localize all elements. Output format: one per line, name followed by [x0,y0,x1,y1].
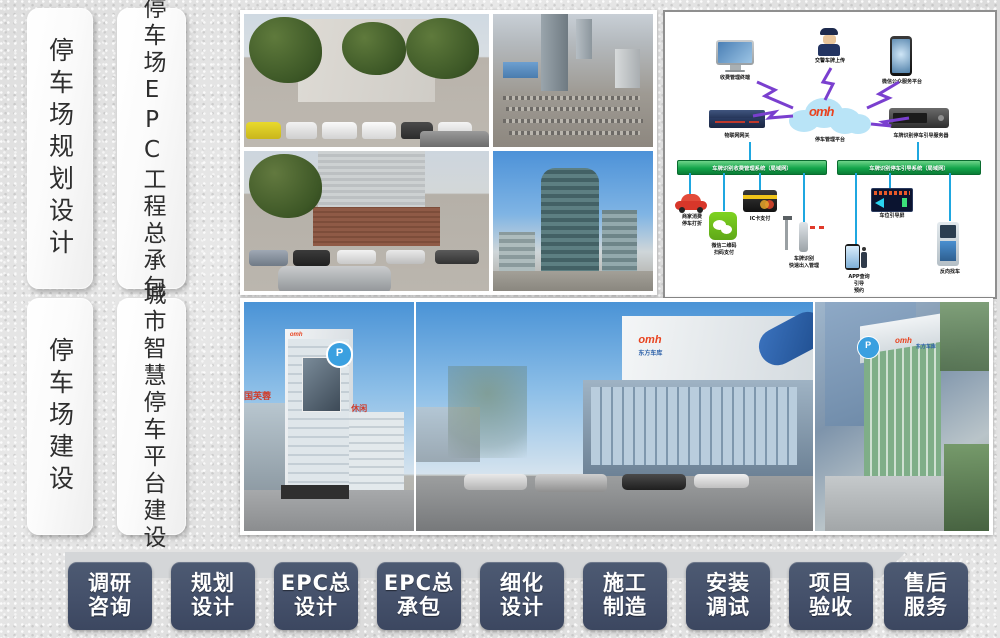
card-smart-parking-platform[interactable]: 城市智慧停车平台建设 [117,298,186,535]
system-architecture-diagram[interactable]: omh 停车管理平台 收费管理终端 交警车牌上传 微信公众服务平台 [663,10,997,299]
card-label: 城市智慧停车平台建设 [140,282,163,552]
step-line1: 售后 [904,572,948,596]
render-parking-p-sign: P [857,336,880,359]
desktop-computer-icon [716,40,754,72]
step-epc-general-contract[interactable]: EPC总 承包 [377,562,461,630]
leaf-lpr-fast-entry-label: 车牌识别快速出入管理 [771,256,837,270]
wechat-icon [709,212,737,240]
slide-canvas: 停车场规划设计 停车场EPC工程总承包 停车场建设 城市智慧停车平台建设 [0,0,1000,638]
photo-gallery-panel [240,10,657,295]
smartphone-icon [890,36,912,76]
leaf-ic-card-payment-label: IC卡支付 [737,215,783,222]
mobile-app-icon [845,244,871,272]
system-lpr-guidance[interactable]: 车牌识别停车引导系统（局域网） [837,160,981,175]
step-project-acceptance[interactable]: 项目 验收 [789,562,873,630]
photo-parking-brick-building[interactable] [244,151,489,291]
renderings-panel: P omh 国芙蓉 休闲 omh 东方车库 [240,298,993,535]
step-line1: 项目 [809,572,853,596]
card-label: 停车场规划设计 [48,37,73,261]
step-line2: 验收 [809,596,853,620]
leaf-reverse-car-finding-label: 反向找车 [929,268,971,275]
render-tower-garage-aerial[interactable]: P omh 东方车库 [815,302,989,531]
step-line2: 设计 [191,596,235,620]
node-guidance-server-label: 车牌识别停车引导服务器 [881,132,961,139]
branch-line-1 [689,173,691,195]
step-line1: 细化 [500,572,544,596]
step-construction-manufacture[interactable]: 施工 制造 [583,562,667,630]
red-car-icon [675,194,707,212]
card-parking-construction[interactable]: 停车场建设 [27,298,93,535]
step-line2: 承包 [397,596,441,620]
step-line2: 调试 [706,596,750,620]
step-line2: 设计 [294,596,338,620]
led-screen-icon [871,188,911,210]
step-line2: 咨询 [88,596,132,620]
step-epc-overall-design[interactable]: EPC总 设计 [274,562,358,630]
network-gateway-icon [709,110,765,128]
step-line1: 调研 [88,572,132,596]
card-label: 停车场建设 [48,337,73,497]
leaf-space-guidance-screen-label: 车位引导屏 [865,212,919,219]
step-detailed-design[interactable]: 细化 设计 [480,562,564,630]
step-line1: 施工 [603,572,647,596]
render-omh-logo: omh [638,334,702,345]
photo-aerial-parking[interactable] [493,14,653,147]
branch-line-6 [855,173,857,245]
step-line1: 规划 [191,572,235,596]
render-garage-building-wide[interactable]: omh 东方车库 [416,302,813,531]
photo-glass-office-tower[interactable] [493,151,653,291]
step-line2: 服务 [904,596,948,620]
step-line1: 安装 [706,572,750,596]
trunk-line-left [749,142,751,162]
photo-surface-parking-lot[interactable] [244,14,489,147]
police-officer-icon [817,28,841,56]
trunk-line-right [917,142,919,162]
node-cloud-platform-label: 停车管理平台 [787,136,873,143]
step-planning-design[interactable]: 规划 设计 [171,562,255,630]
render-omh-logo: omh [290,332,331,341]
barrier-gate-icon [783,216,827,254]
step-installation-commissioning[interactable]: 安装 调试 [686,562,770,630]
branch-line-3 [759,173,761,191]
node-traffic-police-label: 交警车牌上传 [805,57,855,64]
step-research-consulting[interactable]: 调研 咨询 [68,562,152,630]
card-parking-epc-contract[interactable]: 停车场EPC工程总承包 [117,8,186,289]
rack-server-icon [889,108,949,128]
card-parking-planning-design[interactable]: 停车场规划设计 [27,8,93,289]
ic-card-icon [743,190,777,212]
leaf-app-query-label: APP查询引导预约 [837,274,881,294]
step-line2: 设计 [500,596,544,620]
card-label: 停车场EPC工程总承包 [140,0,163,302]
node-iot-gateway-label: 物联网网关 [707,132,767,139]
step-after-sales-service[interactable]: 售后 服务 [884,562,968,630]
render-tower-garage-street[interactable]: P omh 国芙蓉 休闲 [244,302,414,531]
leaf-wechat-qr-payment-label: 微信二维码扫码支付 [697,243,751,257]
kiosk-icon [937,222,959,266]
step-line2: 制造 [603,596,647,620]
step-line1: EPC总 [384,572,454,596]
node-toll-terminal-label: 收费管理终端 [707,74,763,81]
step-line1: EPC总 [281,572,351,596]
diagram-brand-logo: omh [809,104,833,119]
render-parking-p-sign: P [326,341,354,368]
branch-line-2 [723,173,725,211]
branch-line-7 [949,173,951,221]
node-wechat-platform-label: 微信公众服务平台 [869,78,935,85]
